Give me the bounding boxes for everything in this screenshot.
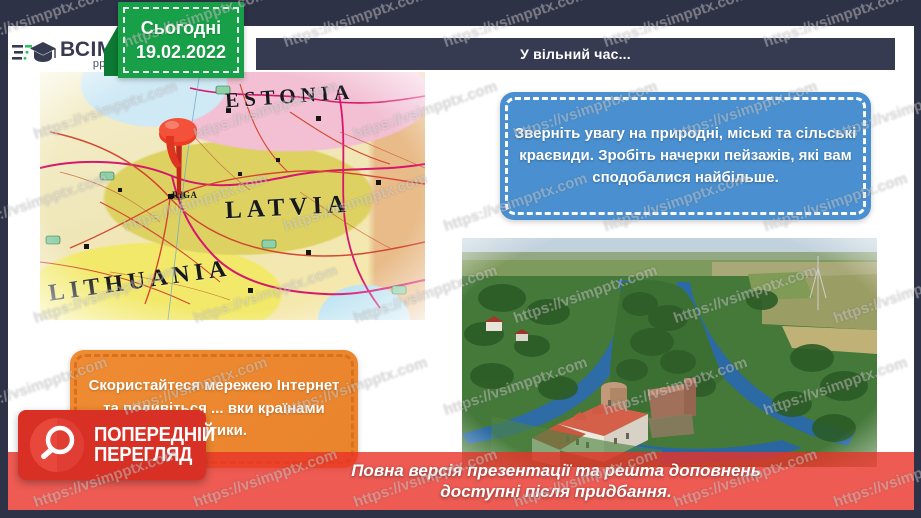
date-badge: Сьогодні 19.02.2022 [118, 2, 244, 78]
instruction-box-blue: Зверніть увагу на природні, міські та сі… [500, 92, 871, 220]
graduation-cap-icon [12, 38, 56, 70]
landscape-photo [462, 238, 877, 467]
preview-badge-line2: ПЕРЕГЛЯД [94, 445, 215, 465]
page-title: У вільний час... [520, 46, 631, 62]
map-pin-icon [152, 110, 204, 202]
instruction-text-blue: Зверніть увагу на природні, міські та сі… [500, 123, 871, 188]
purchase-banner-line2: доступні після придбання. [440, 482, 671, 501]
photo-scene [462, 238, 877, 467]
magnifier-icon [28, 416, 86, 474]
slide-title-bar: У вільний час... [256, 38, 895, 70]
purchase-banner-text: Повна версія презентації та решта доповн… [161, 460, 761, 503]
purchase-banner-line1: Повна версія презентації та решта доповн… [351, 461, 761, 480]
preview-badge[interactable]: ПОПЕРЕДНІЙ ПЕРЕГЛЯД [18, 410, 206, 480]
preview-badge-text: ПОПЕРЕДНІЙ ПЕРЕГЛЯД [94, 425, 215, 466]
date-badge-value: 19.02.2022 [136, 41, 226, 64]
date-badge-label: Сьогодні [141, 17, 221, 40]
slide-canvas: ESTONIA LATVIA LITHUANIA RIGA Зверніть у… [0, 0, 921, 518]
preview-badge-line1: ПОПЕРЕДНІЙ [94, 425, 215, 445]
baltic-map-image: ESTONIA LATVIA LITHUANIA RIGA [40, 72, 425, 320]
